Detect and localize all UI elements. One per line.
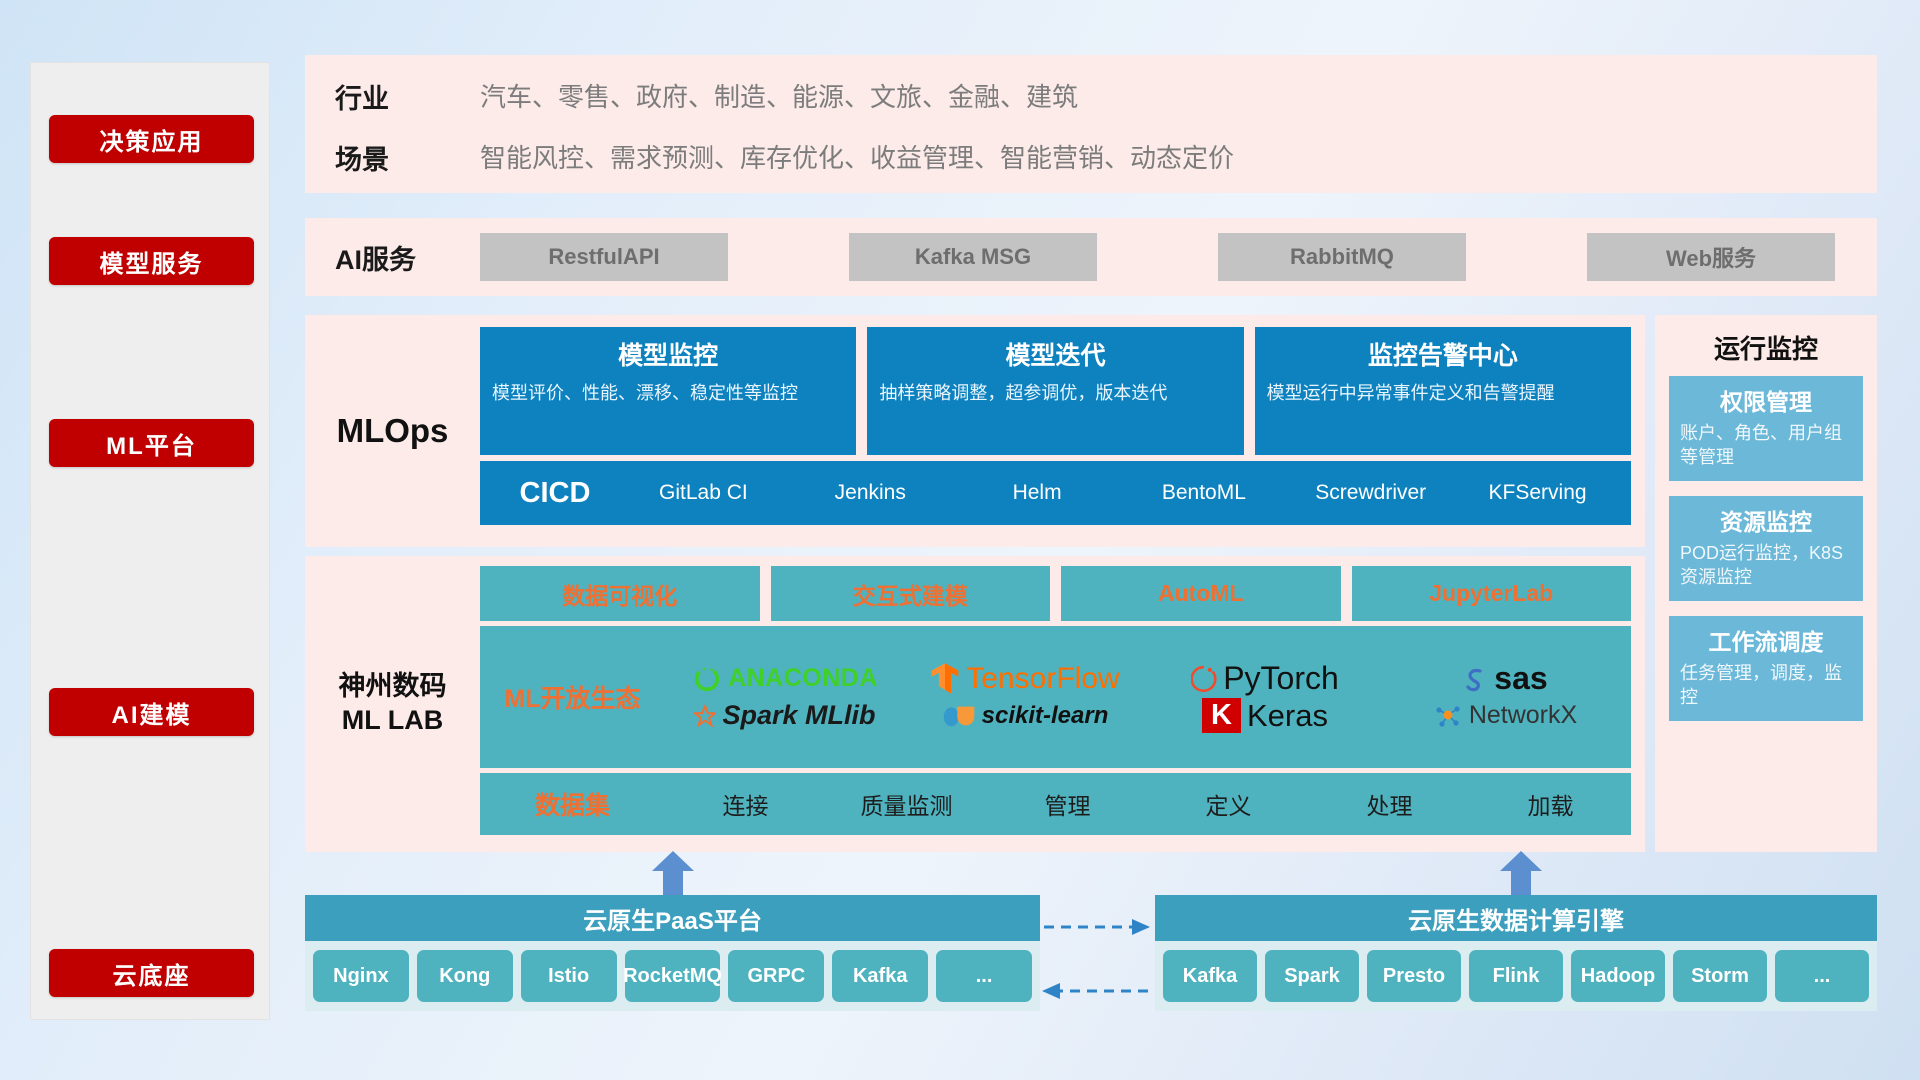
compute-chip-hadoop[interactable]: Hadoop [1571,950,1665,1002]
chip-label: Kafka MSG [915,244,1031,270]
diagram-canvas: 决策应用 模型服务 ML平台 AI建模 云底座 行业 汽车、零售、政府、制造、能… [0,0,1920,1080]
rail-item-decision-application[interactable]: 决策应用 [49,115,254,163]
tensorflow-logo: TensorFlow [905,662,1145,696]
cloud-paas-panel: 云原生PaaS平台 Nginx Kong Istio RocketMQ GRPC… [305,895,1040,1011]
dataset-row: 数据集 连接 质量监测 管理 定义 处理 加载 [480,773,1631,835]
paas-chip-rocketmq[interactable]: RocketMQ [625,950,721,1002]
compute-chip-flink[interactable]: Flink [1469,950,1563,1002]
rail-item-label: 云底座 [113,956,191,991]
cicd-row: CICD GitLab CI Jenkins Helm BentoML Scre… [480,461,1631,525]
paas-chip-more[interactable]: ... [936,950,1032,1002]
ai-service-label: AI服务 [335,238,480,277]
runtime-monitor-title: 运行监控 [1655,315,1877,376]
lab-tool-automl[interactable]: AutoML [1061,566,1341,621]
paas-chip-grpc[interactable]: GRPC [728,950,824,1002]
monitor-card-workflow[interactable]: 工作流调度 任务管理，调度，监控 [1669,616,1863,721]
ai-service-chip-restfulapi[interactable]: RestfulAPI [480,233,728,281]
ml-lab-band: 神州数码 ML LAB 数据可视化 交互式建模 AutoML JupyterLa… [305,556,1645,852]
ai-service-chip-rabbitmq[interactable]: RabbitMQ [1218,233,1466,281]
industry-value: 汽车、零售、政府、制造、能源、文旅、金融、建筑 [480,77,1877,116]
up-arrow-icon-paas [650,851,696,895]
ai-service-chip-web-service[interactable]: Web服务 [1587,233,1835,281]
lab-tool-jupyterlab[interactable]: JupyterLab [1352,566,1632,621]
up-arrow-icon-compute [1498,851,1544,895]
card-desc: 任务管理，调度，监控 [1680,662,1852,710]
anaconda-label: ANACONDA [728,664,878,693]
cicd-item-bentoml[interactable]: BentoML [1120,481,1287,504]
dataset-label: 数据集 [480,786,665,822]
keras-logo: K Keras [1145,698,1385,734]
card-title: 资源监控 [1680,503,1852,537]
compute-chip-more[interactable]: ... [1775,950,1869,1002]
dataset-item-connect[interactable]: 连接 [665,787,826,821]
ml-lab-label: 神州数码 ML LAB [305,556,480,852]
monitor-card-permission[interactable]: 权限管理 账户、角色、用户组等管理 [1669,376,1863,481]
paas-chip-istio[interactable]: Istio [521,950,617,1002]
paas-chip-kong[interactable]: Kong [417,950,513,1002]
bidirectional-link [1040,895,1152,1025]
pytorch-logo: PyTorch [1145,660,1385,697]
scikit-learn-label: scikit-learn [982,702,1109,730]
rail-item-model-service[interactable]: 模型服务 [49,237,254,285]
spark-mllib-label: Spark MLlib [722,700,875,731]
cicd-item-screwdriver[interactable]: Screwdriver [1287,481,1454,504]
applications-band: 行业 汽车、零售、政府、制造、能源、文旅、金融、建筑 场景 智能风控、需求预测、… [305,55,1877,193]
mlops-band: MLOps 模型监控 模型评价、性能、漂移、稳定性等监控 模型迭代 抽样策略调整… [305,315,1645,547]
card-desc: 抽样策略调整，超参调优，版本迭代 [879,381,1231,405]
layer-rail: 决策应用 模型服务 ML平台 AI建模 云底座 [30,62,270,1020]
pytorch-label: PyTorch [1223,660,1339,697]
rail-item-ai-modeling[interactable]: AI建模 [49,688,254,736]
chip-label: Web服务 [1666,241,1756,273]
cicd-label: CICD [490,477,620,510]
cicd-item-kfserving[interactable]: KFServing [1454,481,1621,504]
anaconda-logo: ANACONDA [665,664,905,694]
cicd-item-gitlab-ci[interactable]: GitLab CI [620,481,787,504]
ai-service-band: AI服务 RestfulAPI Kafka MSG RabbitMQ Web服务 [305,218,1877,296]
rail-item-ml-platform[interactable]: ML平台 [49,419,254,467]
scenario-value: 智能风控、需求预测、库存优化、收益管理、智能营销、动态定价 [480,138,1877,177]
card-desc: 账户、角色、用户组等管理 [1680,422,1852,470]
compute-chip-presto[interactable]: Presto [1367,950,1461,1002]
cloud-compute-panel: 云原生数据计算引擎 Kafka Spark Presto Flink Hadoo… [1155,895,1877,1011]
dataset-item-define[interactable]: 定义 [1148,787,1309,821]
dataset-item-process[interactable]: 处理 [1309,787,1470,821]
mlops-card-model-iteration[interactable]: 模型迭代 抽样策略调整，超参调优，版本迭代 [867,327,1243,455]
scikit-learn-logo: scikit-learn [905,701,1145,731]
chip-label: RabbitMQ [1290,244,1394,270]
dataset-item-manage[interactable]: 管理 [987,787,1148,821]
scenario-label: 场景 [335,138,480,177]
industry-label: 行业 [335,77,480,116]
card-desc: 模型运行中异常事件定义和告警提醒 [1267,381,1619,405]
keras-label: Keras [1247,698,1328,734]
compute-chip-kafka[interactable]: Kafka [1163,950,1257,1002]
card-title: 权限管理 [1680,383,1852,417]
card-title: 模型迭代 [879,336,1231,372]
rail-item-cloud-foundation[interactable]: 云底座 [49,949,254,997]
dataset-item-load[interactable]: 加载 [1470,787,1631,821]
dataset-item-quality-monitor[interactable]: 质量监测 [826,787,987,821]
ml-ecosystem-row: ML开放生态 ANACONDA [480,626,1631,768]
rail-item-label: AI建模 [112,695,192,730]
ml-lab-label-line1: 神州数码 [339,670,447,704]
monitor-card-resource[interactable]: 资源监控 POD运行监控，K8S资源监控 [1669,496,1863,601]
rail-item-label: 模型服务 [100,244,204,279]
cicd-item-jenkins[interactable]: Jenkins [787,481,954,504]
cloud-paas-title: 云原生PaaS平台 [305,895,1040,941]
cloud-compute-title: 云原生数据计算引擎 [1155,895,1877,941]
paas-chip-kafka[interactable]: Kafka [832,950,928,1002]
sas-label: sas [1494,660,1547,697]
mlops-card-model-monitor[interactable]: 模型监控 模型评价、性能、漂移、稳定性等监控 [480,327,856,455]
ai-service-chip-kafka-msg[interactable]: Kafka MSG [849,233,1097,281]
compute-chip-storm[interactable]: Storm [1673,950,1767,1002]
rail-item-label: 决策应用 [100,122,204,157]
paas-chip-nginx[interactable]: Nginx [313,950,409,1002]
card-title: 工作流调度 [1680,623,1852,657]
ml-ecosystem-label: ML开放生态 [480,679,665,715]
spark-mllib-logo: Spark MLlib [665,700,905,731]
compute-chip-spark[interactable]: Spark [1265,950,1359,1002]
networkx-logo: NetworkX [1385,701,1625,730]
ml-lab-label-line2: ML LAB [342,704,444,738]
keras-mark: K [1202,698,1241,733]
lab-tool-data-visualization[interactable]: 数据可视化 [480,566,760,621]
mlops-card-alert-center[interactable]: 监控告警中心 模型运行中异常事件定义和告警提醒 [1255,327,1631,455]
tensorflow-label: TensorFlow [966,662,1119,696]
card-title: 监控告警中心 [1267,336,1619,372]
runtime-monitor-band: 运行监控 权限管理 账户、角色、用户组等管理 资源监控 POD运行监控，K8S资… [1655,315,1877,852]
lab-tool-interactive-modeling[interactable]: 交互式建模 [771,566,1051,621]
mlops-label: MLOps [305,315,480,547]
chip-label: RestfulAPI [548,244,659,270]
card-desc: POD运行监控，K8S资源监控 [1680,542,1852,590]
rail-item-label: ML平台 [106,426,197,461]
card-title: 模型监控 [492,336,844,372]
card-desc: 模型评价、性能、漂移、稳定性等监控 [492,381,844,405]
sas-logo: sas [1385,660,1625,697]
networkx-label: NetworkX [1469,701,1577,730]
cicd-item-helm[interactable]: Helm [954,481,1121,504]
